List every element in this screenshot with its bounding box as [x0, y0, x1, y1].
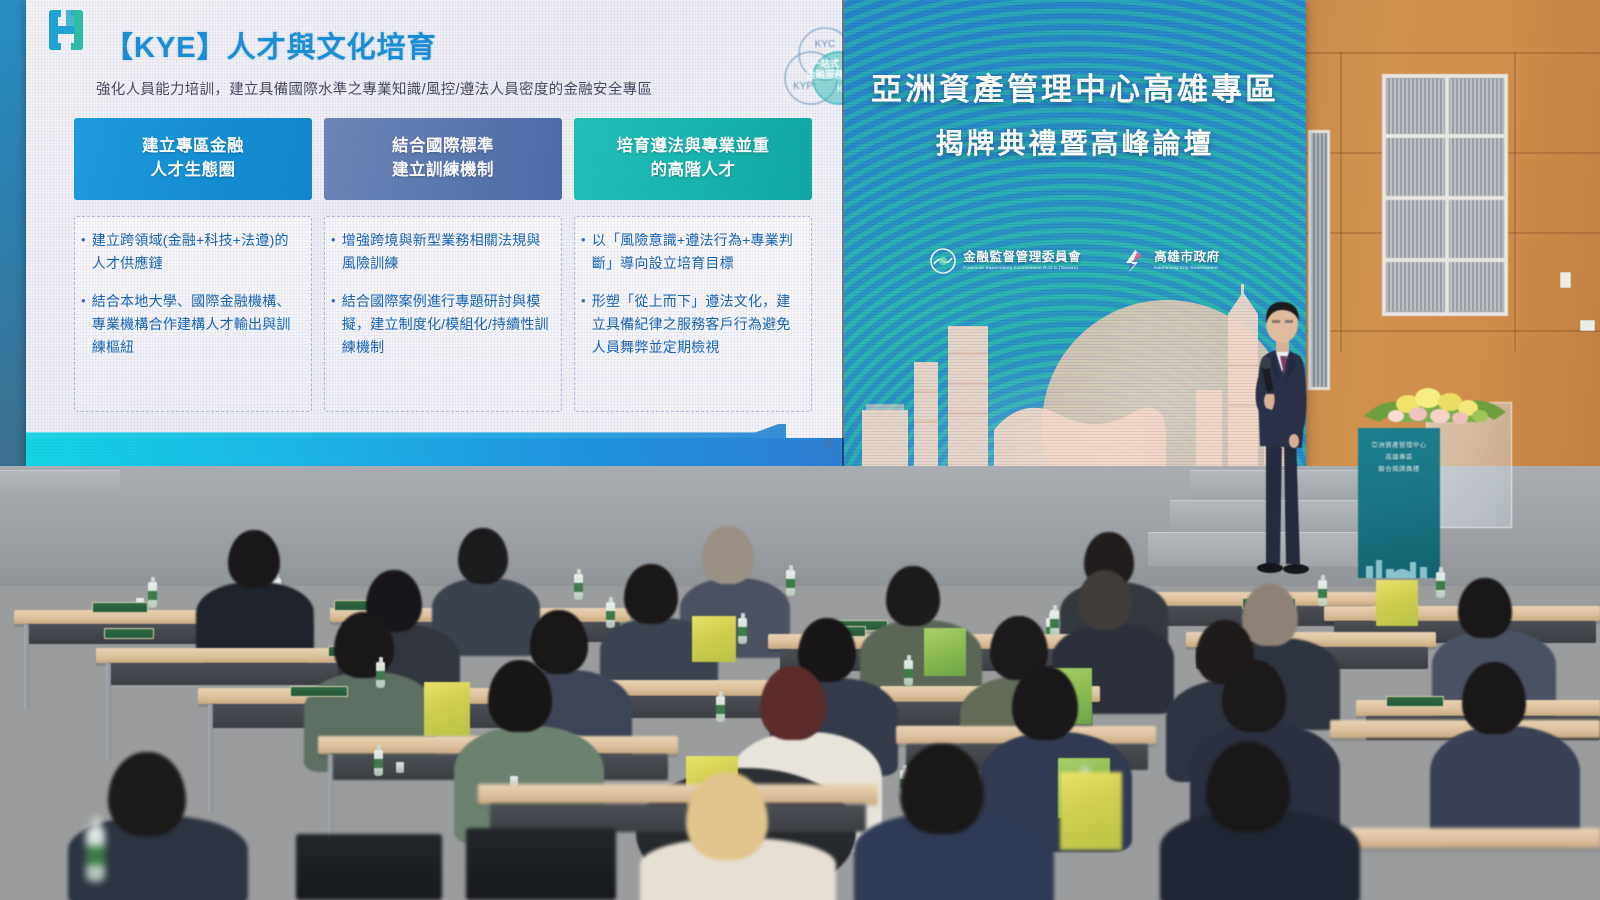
audience-area: [0, 520, 1600, 900]
gift-bag: [1060, 772, 1122, 850]
audience-head: [1078, 570, 1132, 630]
fsc-logo-zh: 金融監督管理委員會: [963, 251, 1081, 264]
drinking-glass: [396, 762, 404, 773]
bullet-item: • 結合本地大學、國際金融機構、專業機構合作建構人才輸出與訓練樞紐: [81, 290, 301, 358]
banner-subtitle: 揭牌典禮暨高峰論壇: [844, 122, 1306, 162]
water-bottle: [786, 570, 795, 596]
name-placard: [290, 686, 348, 697]
bullet-dot-icon: •: [581, 290, 586, 358]
audience-head: [1206, 742, 1290, 832]
water-bottle: [606, 602, 615, 628]
gift-bag: [424, 682, 470, 736]
bullet-dot-icon: •: [581, 229, 586, 274]
kaohsiung-city-logo: 高雄市政府 Kaohsiung City Government: [1121, 248, 1220, 274]
water-bottle: [376, 662, 385, 688]
podium-sign-line3: 聯合揭牌典禮: [1358, 464, 1440, 476]
table-leg: [208, 704, 213, 812]
column-body-3: • 以「風險意識+遵法行為+專業判斷」導向設立培育目標 • 形塑「從上而下」遵法…: [574, 216, 812, 412]
wall-switch-plate: [1560, 272, 1571, 288]
presentation-slide: 【KYE】人才與文化培育 強化人員能力培訓，建立具備國際水準之專業知識/風控/遵…: [26, 0, 844, 468]
column-body-2: • 增強跨境與新型業務相關法規與風險訓練 • 結合國際案例進行專題研討與模擬，建…: [324, 216, 562, 412]
bullet-item: • 以「風險意識+遵法行為+專業判斷」導向設立培育目標: [581, 229, 801, 274]
stage-step: [0, 470, 120, 500]
audience-head: [1012, 666, 1078, 740]
audience-head: [624, 564, 678, 624]
column-header-1: 建立專區金融 人才生態圈: [74, 118, 312, 200]
bullet-item: • 建立跨領域(金融+科技+法遵)的人才供應鏈: [81, 229, 301, 274]
audience-head: [228, 530, 280, 588]
bullet-text: 形塑「從上而下」遵法文化，建立具備紀律之服務客戶行為避免人員舞弊並定期檢視: [592, 290, 801, 358]
banner-logo-row: 金融監督管理委員會 Financial Supervisory Commissi…: [844, 248, 1306, 274]
screenshot-root: 【KYE】人才與文化培育 強化人員能力培訓，建立具備國際水準之專業知識/風控/遵…: [0, 0, 1600, 900]
slide-subtitle: 強化人員能力培訓，建立具備國際水準之專業知識/風控/遵法人員密度的金融安全專區: [96, 78, 652, 99]
column-header-1-line2: 人才生態圈: [151, 159, 236, 183]
audience-head: [760, 666, 826, 740]
table-leg: [24, 624, 29, 710]
slide-columns: 建立專區金融 人才生態圈 • 建立跨領域(金融+科技+法遵)的人才供應鏈 • 結…: [74, 118, 814, 412]
gift-bag: [1376, 580, 1418, 626]
water-bottle: [904, 660, 913, 686]
water-bottle: [574, 574, 583, 600]
audience-head: [530, 610, 588, 674]
badge-center-line1: 一站式: [811, 58, 840, 70]
slide-footer-bar: [26, 438, 844, 468]
column-header-2-line1: 結合國際標準: [392, 135, 494, 159]
audience-head: [488, 660, 552, 732]
water-bottle: [738, 618, 747, 644]
water-bottle: [1436, 572, 1445, 598]
bullet-dot-icon: •: [331, 290, 336, 358]
column-body-1: • 建立跨領域(金融+科技+法遵)的人才供應鏈 • 結合本地大學、國際金融機構、…: [74, 216, 312, 412]
bank-h-logo-icon: [46, 7, 86, 53]
column-header-3: 培育遵法與專業並重 的高階人才: [574, 118, 812, 200]
podium-sign-line2: 高雄專區: [1358, 452, 1440, 464]
audience-head: [900, 744, 984, 834]
audience-head: [1462, 662, 1526, 734]
audience-head: [702, 526, 754, 584]
slide-title: 【KYE】人才與文化培育: [104, 24, 437, 66]
gift-bag: [692, 616, 736, 662]
water-bottle: [148, 582, 157, 608]
bullet-text: 建立跨領域(金融+科技+法遵)的人才供應鏈: [92, 229, 301, 274]
column-header-2: 結合國際標準 建立訓練機制: [324, 118, 562, 200]
column-header-3-line1: 培育遵法與專業並重: [617, 135, 770, 159]
table-leg: [106, 663, 111, 759]
audience-head: [458, 528, 508, 584]
kaohsiung-city-mark-icon: [1121, 248, 1147, 274]
audience-head: [1222, 660, 1286, 732]
water-bottle: [1318, 580, 1327, 606]
slide-column-3: 培育遵法與專業並重 的高階人才 • 以「風險意識+遵法行為+專業判斷」導向設立培…: [574, 118, 812, 412]
bullet-dot-icon: •: [331, 229, 336, 274]
window-blinds-icon: [1382, 74, 1508, 316]
slide-column-2: 結合國際標準 建立訓練機制 • 增強跨境與新型業務相關法規與風險訓練 • 結合國…: [324, 118, 562, 412]
audience-head: [886, 566, 940, 626]
slide-page-number: 6: [825, 435, 832, 450]
name-placard: [92, 602, 148, 613]
banner-title: 亞洲資產管理中心高雄專區: [844, 64, 1306, 109]
slide-footer-accent: [26, 424, 786, 438]
bullet-item: • 增強跨境與新型業務相關法規與風險訓練: [331, 229, 551, 274]
bullet-item: • 結合國際案例進行專題研討與模擬，建立制度化/模組化/持續性訓練機制: [331, 290, 551, 358]
audience-head: [334, 612, 394, 678]
water-bottle: [86, 827, 105, 882]
podium-sign-line1: 亞洲資產管理中心: [1358, 440, 1440, 452]
column-header-3-line2: 的高階人才: [651, 159, 736, 183]
column-header-2-line2: 建立訓練機制: [392, 159, 494, 183]
led-video-wall: 【KYE】人才與文化培育 強化人員能力培訓，建立具備國際水準之專業知識/風控/遵…: [26, 0, 1306, 468]
kaohsiung-logo-zh: 高雄市政府: [1154, 251, 1220, 264]
bullet-dot-icon: •: [81, 290, 86, 358]
water-bottle: [716, 696, 725, 722]
name-placard: [1386, 696, 1444, 707]
bullet-text: 結合國際案例進行專題研討與模擬，建立制度化/模組化/持續性訓練機制: [342, 290, 551, 358]
water-bottle: [1050, 610, 1059, 636]
bullet-text: 以「風險意識+遵法行為+專業判斷」導向設立培育目標: [592, 229, 801, 274]
chair-back: [466, 828, 616, 900]
fsc-logo: 金融監督管理委員會 Financial Supervisory Commissi…: [930, 248, 1081, 274]
flower-arrangement-icon: [1360, 372, 1510, 432]
slide-column-1: 建立專區金融 人才生態圈 • 建立跨領域(金融+科技+法遵)的人才供應鏈 • 結…: [74, 118, 312, 412]
column-header-1-line1: 建立專區金融: [142, 135, 244, 159]
badge-center-line2: 金融服務: [805, 69, 844, 81]
svg-text:KYP: KYP: [793, 81, 813, 92]
bullet-text: 增強跨境與新型業務相關法規與風險訓練: [342, 229, 551, 274]
table-row: [478, 784, 878, 804]
name-placard: [104, 628, 154, 639]
table-row: [1350, 828, 1600, 848]
audience-head: [1242, 584, 1298, 646]
audience-head: [1458, 578, 1512, 638]
bullet-text: 結合本地大學、國際金融機構、專業機構合作建構人才輸出與訓練樞紐: [92, 290, 301, 358]
bullet-dot-icon: •: [81, 229, 86, 274]
chair-back: [296, 834, 442, 900]
audience-head: [686, 772, 768, 860]
fsc-emblem-icon: [930, 248, 956, 274]
kye-venn-badge: KYC KYP KYE 一站式 金融服務: [781, 24, 844, 112]
gift-bag: [924, 628, 966, 676]
water-bottle: [374, 750, 383, 776]
wall-outlet-plate: [1580, 320, 1595, 331]
audience-head: [108, 752, 186, 836]
svg-text:KYC: KYC: [815, 39, 836, 50]
fsc-logo-en: Financial Supervisory Commission R.O.C.(…: [963, 266, 1081, 271]
bullet-item: • 形塑「從上而下」遵法文化，建立具備紀律之服務客戶行為避免人員舞弊並定期檢視: [581, 290, 801, 358]
kaohsiung-logo-en: Kaohsiung City Government: [1154, 266, 1220, 271]
